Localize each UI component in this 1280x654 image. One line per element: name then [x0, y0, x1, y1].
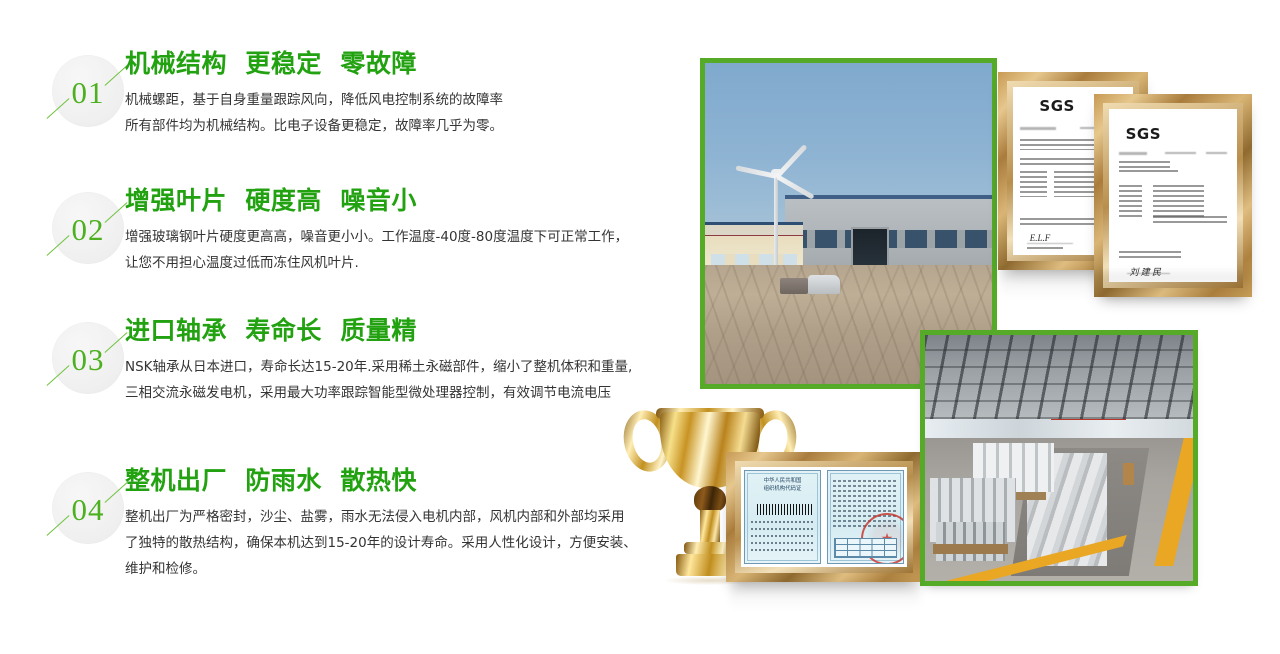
wooden-pallet — [933, 544, 1008, 554]
trophy-neck — [694, 486, 726, 512]
sgs-signature: E.L.F — [1030, 233, 1051, 243]
certificate-left-page: 中华人民共和国 组织机构代码证 — [744, 470, 821, 564]
trophy-stem — [700, 510, 720, 544]
sgs-logo: SGS — [1126, 125, 1161, 143]
org-code-certificate-frame: 中华人民共和国 组织机构代码证 — [726, 452, 922, 582]
certificate-title-line1: 中华人民共和国 — [745, 477, 820, 485]
certificate-title-line2: 组织机构代码证 — [745, 485, 820, 493]
sgs-certificate-frame-2: SGS 刘 建 民 — [1094, 94, 1252, 297]
certificate-reflection — [1000, 272, 1250, 298]
certificate-reflection — [730, 583, 920, 609]
certificate-right-page — [827, 470, 904, 564]
media-gallery: SGS E.L.F SGS — [0, 0, 1280, 654]
warehouse-steel-roof — [925, 335, 1193, 419]
parked-truck — [780, 278, 809, 294]
wooden-stool — [1123, 463, 1134, 485]
certificate-validation-grid — [834, 538, 897, 558]
warehouse-interior-photo — [920, 330, 1198, 586]
certificate-title: 中华人民共和国 组织机构代码证 — [745, 477, 820, 493]
promo-page: 01 机械结构 更稳定 零故障 机械螺距，基于自身重量跟踪风向，降低风电控制系统… — [0, 0, 1280, 654]
sgs-logo: SGS — [1039, 97, 1074, 115]
parked-van — [808, 275, 840, 294]
parts-stack — [936, 522, 1006, 561]
certificate-fields — [751, 521, 814, 556]
certificate-barcode — [757, 504, 814, 515]
